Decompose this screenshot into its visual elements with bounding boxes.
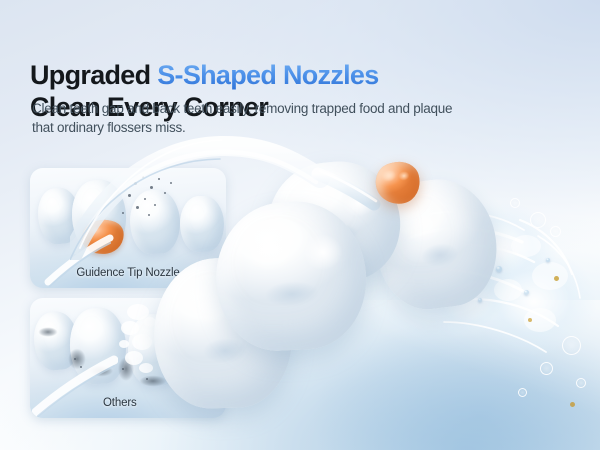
- water-bubble: [530, 212, 546, 228]
- card-debris: [146, 378, 148, 380]
- water-droplet: [496, 266, 502, 272]
- water-bubble: [510, 198, 520, 208]
- promo-banner: Guidence Tip Nozzle: [0, 0, 600, 450]
- nozzle-svg: [70, 130, 410, 260]
- water-bubble: [576, 378, 586, 388]
- water-bubble: [518, 388, 527, 397]
- hero-illustration: [210, 140, 600, 450]
- food-particle: [570, 402, 575, 407]
- water-droplet: [546, 258, 550, 262]
- plaque-residue: [36, 326, 60, 338]
- water-bubble: [550, 226, 561, 237]
- water-bubble: [540, 362, 553, 375]
- headline-accent: S-Shaped Nozzles: [157, 60, 378, 90]
- food-particle: [528, 318, 532, 322]
- water-droplet: [524, 290, 529, 295]
- water-droplet: [478, 298, 482, 302]
- s-shaped-nozzle: [70, 130, 410, 260]
- water-bubble: [562, 336, 581, 355]
- headline-prefix: Upgraded: [30, 60, 157, 90]
- food-particle: [554, 276, 559, 281]
